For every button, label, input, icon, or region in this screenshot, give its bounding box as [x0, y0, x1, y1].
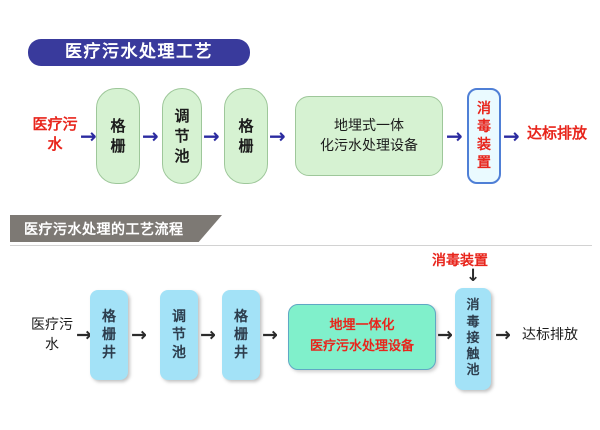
node-char: 调 [172, 308, 186, 326]
node-char: 栅 [238, 136, 253, 156]
flow-two-node-grille-well-1[interactable]: 格 栅 井 [90, 290, 128, 380]
section-divider-rule [10, 245, 592, 246]
node-char: 调 [174, 106, 189, 126]
node-char: 格 [102, 308, 116, 326]
process-flow-diagram-one: 医疗污水 → 格 栅 → 调 节 池 → 格 栅 → 地埋式一体 化污水处理设备… [0, 88, 600, 192]
node-char: 消 [466, 298, 479, 314]
equipment-line-1: 地埋一体化 [329, 318, 394, 333]
section-two-banner-text: 医疗污水处理的工艺流程 [24, 219, 184, 239]
flow-two-node-buried-integrated-equipment[interactable]: 地埋一体化 医疗污水处理设备 [288, 304, 436, 370]
equipment-line-2: 医疗污水处理设备 [310, 339, 414, 354]
node-char: 井 [102, 344, 116, 362]
process-flow-diagram-two: 医疗污水 → 格 栅 井 → 调 节 池 → 格 栅 井 → 地埋一体化 医疗污… [0, 288, 600, 396]
section-one-title-text: 医疗污水处理工艺 [65, 44, 213, 61]
flow-two-arrow-2: → [131, 326, 147, 345]
node-char: 装 [477, 136, 491, 154]
flow-one-node-buried-equipment[interactable]: 地埋式一体 化污水处理设备 [295, 96, 443, 176]
section-two-banner: 医疗污水处理的工艺流程 [10, 215, 222, 242]
node-char: 池 [174, 146, 189, 166]
flow-two-arrow-down: ↓ [466, 268, 480, 285]
node-char: 置 [477, 154, 491, 172]
node-char: 池 [172, 344, 186, 362]
node-char: 栅 [102, 326, 116, 344]
flow-two-arrow-5: → [437, 326, 453, 345]
flow-two-influent-label: 医疗污水 [26, 316, 78, 355]
flow-one-node-grille-1[interactable]: 格 栅 [96, 88, 140, 184]
node-char: 井 [234, 344, 248, 362]
flow-one-node-adjusting-tank[interactable]: 调 节 池 [162, 88, 202, 184]
flow-one-node-grille-2[interactable]: 格 栅 [224, 88, 268, 184]
equipment-line-1: 地埋式一体 [334, 118, 404, 134]
flow-two-arrow-6: → [495, 326, 511, 345]
flow-two-arrow-4: → [262, 326, 278, 345]
flow-one-arrow-1: → [80, 126, 97, 146]
flow-one-arrow-3: → [203, 126, 220, 146]
node-char: 毒 [477, 118, 491, 136]
flow-one-influent-label: 医疗污水 [28, 114, 82, 155]
flow-one-arrow-5: → [446, 126, 463, 146]
flow-one-arrow-6: → [503, 126, 520, 146]
node-char: 池 [466, 363, 479, 379]
node-char: 格 [238, 116, 253, 136]
flow-one-arrow-2: → [142, 126, 159, 146]
node-char: 毒 [466, 315, 479, 331]
flow-two-node-disinfect-contact-tank[interactable]: 消 毒 接 触 池 [455, 288, 491, 390]
equipment-line-2: 化污水处理设备 [320, 138, 418, 154]
flow-one-node-disinfect-device[interactable]: 消 毒 装 置 [467, 88, 501, 184]
flow-one-arrow-4: → [269, 126, 286, 146]
node-char: 触 [466, 347, 479, 363]
node-char: 节 [172, 326, 186, 344]
node-char: 节 [174, 126, 189, 146]
node-char: 栅 [234, 326, 248, 344]
flow-two-node-adjusting-tank[interactable]: 调 节 池 [160, 290, 198, 380]
section-one-title-badge: 医疗污水处理工艺 [28, 39, 250, 66]
flow-two-node-grille-well-2[interactable]: 格 栅 井 [222, 290, 260, 380]
node-char: 格 [110, 116, 125, 136]
node-char: 格 [234, 308, 248, 326]
flow-two-effluent-label: 达标排放 [522, 326, 600, 346]
flow-two-arrow-3: → [200, 326, 216, 345]
node-char: 消 [477, 100, 491, 118]
flow-one-effluent-label: 达标排放 [527, 123, 600, 143]
node-char: 接 [466, 331, 479, 347]
node-char: 栅 [110, 136, 125, 156]
